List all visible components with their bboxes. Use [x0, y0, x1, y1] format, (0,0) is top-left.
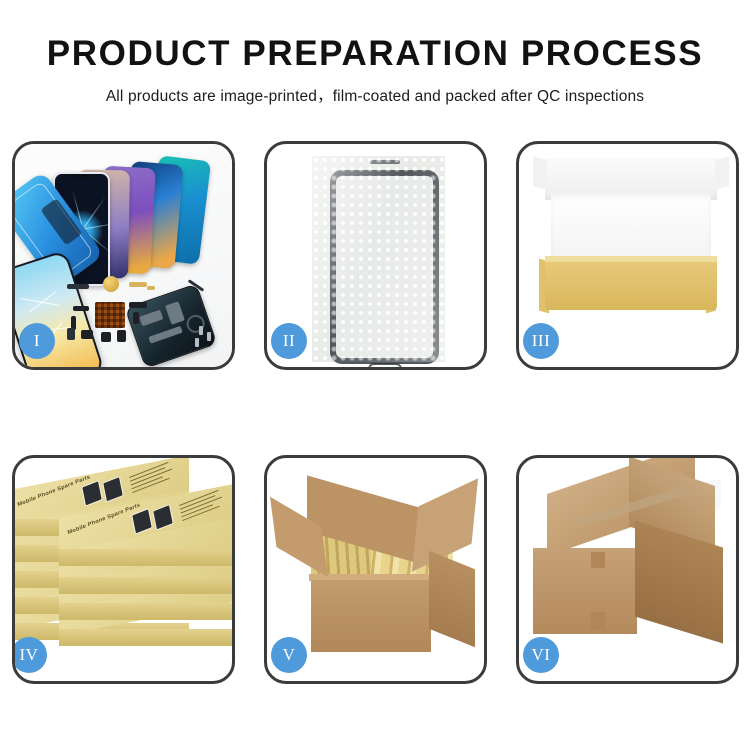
sealed-carton-icon	[533, 494, 729, 650]
spare-parts-icon	[67, 280, 217, 366]
step-numeral-1: I	[34, 331, 40, 351]
step-badge-2: II	[271, 323, 307, 359]
step-badge-1: I	[19, 323, 55, 359]
box-stack-icon: Mobile Phone Spare Parts	[15, 474, 232, 674]
page-title: PRODUCT PREPARATION PROCESS	[0, 0, 750, 73]
step-panel-6: VI	[516, 455, 739, 684]
step-panel-3: III	[516, 141, 739, 370]
step-panel-2: II	[264, 141, 487, 370]
bubble-wrap-icon	[312, 156, 445, 362]
step-numeral-3: III	[532, 331, 550, 351]
step-badge-3: III	[523, 323, 559, 359]
step-panel-5: V	[264, 455, 487, 684]
steps-row-top: I II	[12, 141, 739, 370]
phone-glass-icon	[330, 170, 439, 364]
steps-grid: I II	[12, 141, 739, 684]
step-numeral-5: V	[283, 645, 296, 665]
infographic-page: PRODUCT PREPARATION PROCESS All products…	[0, 0, 750, 750]
box-label-text-a: Mobile Phone Spare Parts	[17, 474, 91, 508]
header: PRODUCT PREPARATION PROCESS All products…	[0, 0, 750, 106]
step-panel-1: I	[12, 141, 235, 370]
step-badge-4: IV	[12, 637, 47, 673]
step-numeral-2: II	[283, 331, 295, 351]
steps-row-bottom: Mobile Phone Spare Parts	[12, 455, 739, 684]
step-badge-6: VI	[523, 637, 559, 673]
step-numeral-4: IV	[20, 645, 39, 665]
step-4-image: Mobile Phone Spare Parts	[15, 458, 232, 681]
page-subtitle: All products are image-printed，film-coat…	[0, 73, 750, 106]
step-badge-5: V	[271, 637, 307, 673]
step-panel-4: Mobile Phone Spare Parts	[12, 455, 235, 684]
kraft-box-front-icon	[545, 262, 717, 310]
open-carton-icon	[281, 488, 477, 658]
step-numeral-6: VI	[532, 645, 551, 665]
